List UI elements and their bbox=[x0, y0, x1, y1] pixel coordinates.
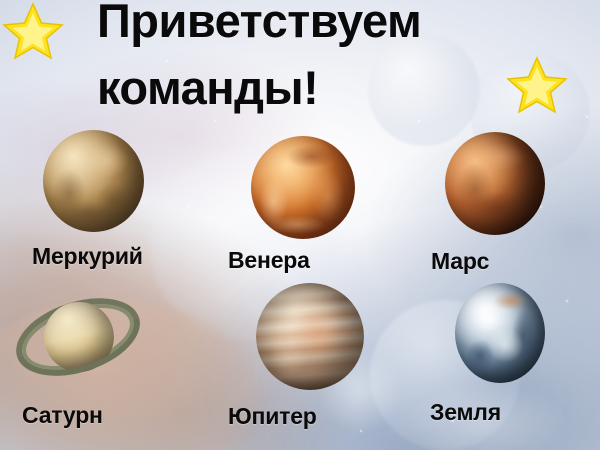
label-saturn: Сатурн bbox=[22, 402, 103, 429]
star-icon-left bbox=[2, 2, 64, 60]
planet-mars bbox=[445, 132, 545, 235]
title-line-2: команды! bbox=[97, 65, 527, 111]
label-venus: Венера bbox=[228, 247, 310, 274]
label-mercury: Меркурий bbox=[32, 243, 143, 270]
planet-mercury bbox=[43, 130, 144, 232]
page-title: Приветствуем команды! bbox=[97, 0, 527, 111]
title-line-1: Приветствуем bbox=[97, 0, 421, 47]
planet-venus bbox=[251, 136, 355, 239]
label-earth: Земля bbox=[430, 399, 501, 426]
planet-jupiter bbox=[256, 283, 364, 390]
planet-saturn bbox=[16, 286, 140, 390]
presentation-slide: Приветствуем команды! Меркурий Венера Ма… bbox=[0, 0, 600, 450]
label-jupiter: Юпитер bbox=[228, 403, 317, 430]
planet-earth bbox=[455, 283, 545, 383]
label-mars: Марс bbox=[431, 248, 489, 275]
